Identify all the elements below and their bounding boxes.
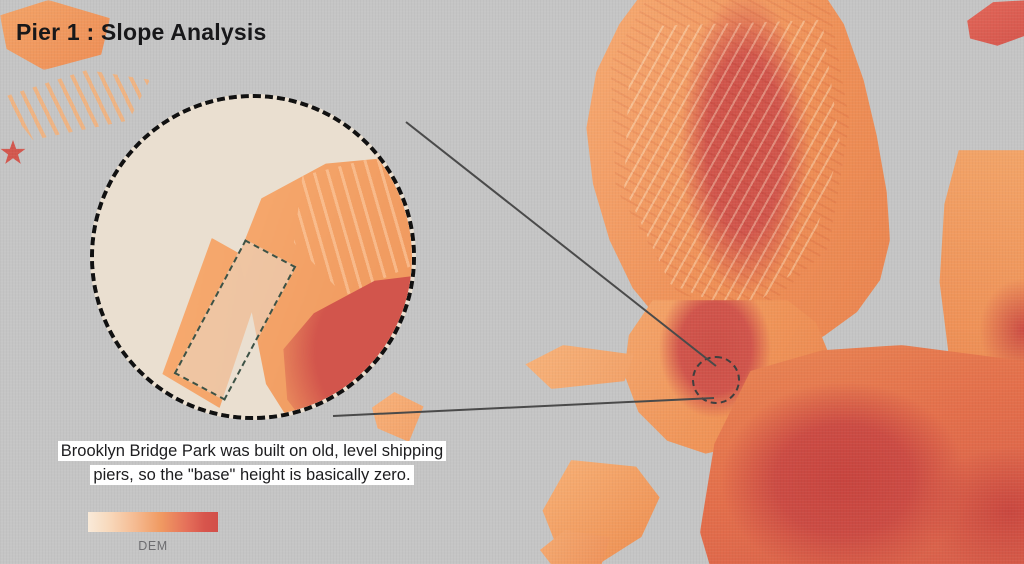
inset-clip-region xyxy=(94,98,412,416)
page-title: Pier 1 : Slope Analysis xyxy=(16,19,266,46)
dem-legend: DEM xyxy=(88,512,218,553)
landmass-harbour-sliver-b xyxy=(516,345,634,389)
landmass-brooklyn xyxy=(700,345,1024,564)
caption-line-1: Brooklyn Bridge Park was built on old, l… xyxy=(58,441,446,461)
star-fort-shape xyxy=(0,140,26,166)
caption-block: Brooklyn Bridge Park was built on old, l… xyxy=(18,440,486,487)
magnified-detail-circle xyxy=(90,94,416,420)
caption-line-2: piers, so the "base" height is basically… xyxy=(90,465,413,485)
dem-colorbar xyxy=(88,512,218,532)
slope-analysis-figure: Pier 1 : Slope Analysis Brooklyn Bridge … xyxy=(0,0,1024,564)
dem-legend-label: DEM xyxy=(88,539,218,553)
landmass-northeast-patch xyxy=(960,0,1024,52)
zoom-source-circle xyxy=(692,356,740,404)
